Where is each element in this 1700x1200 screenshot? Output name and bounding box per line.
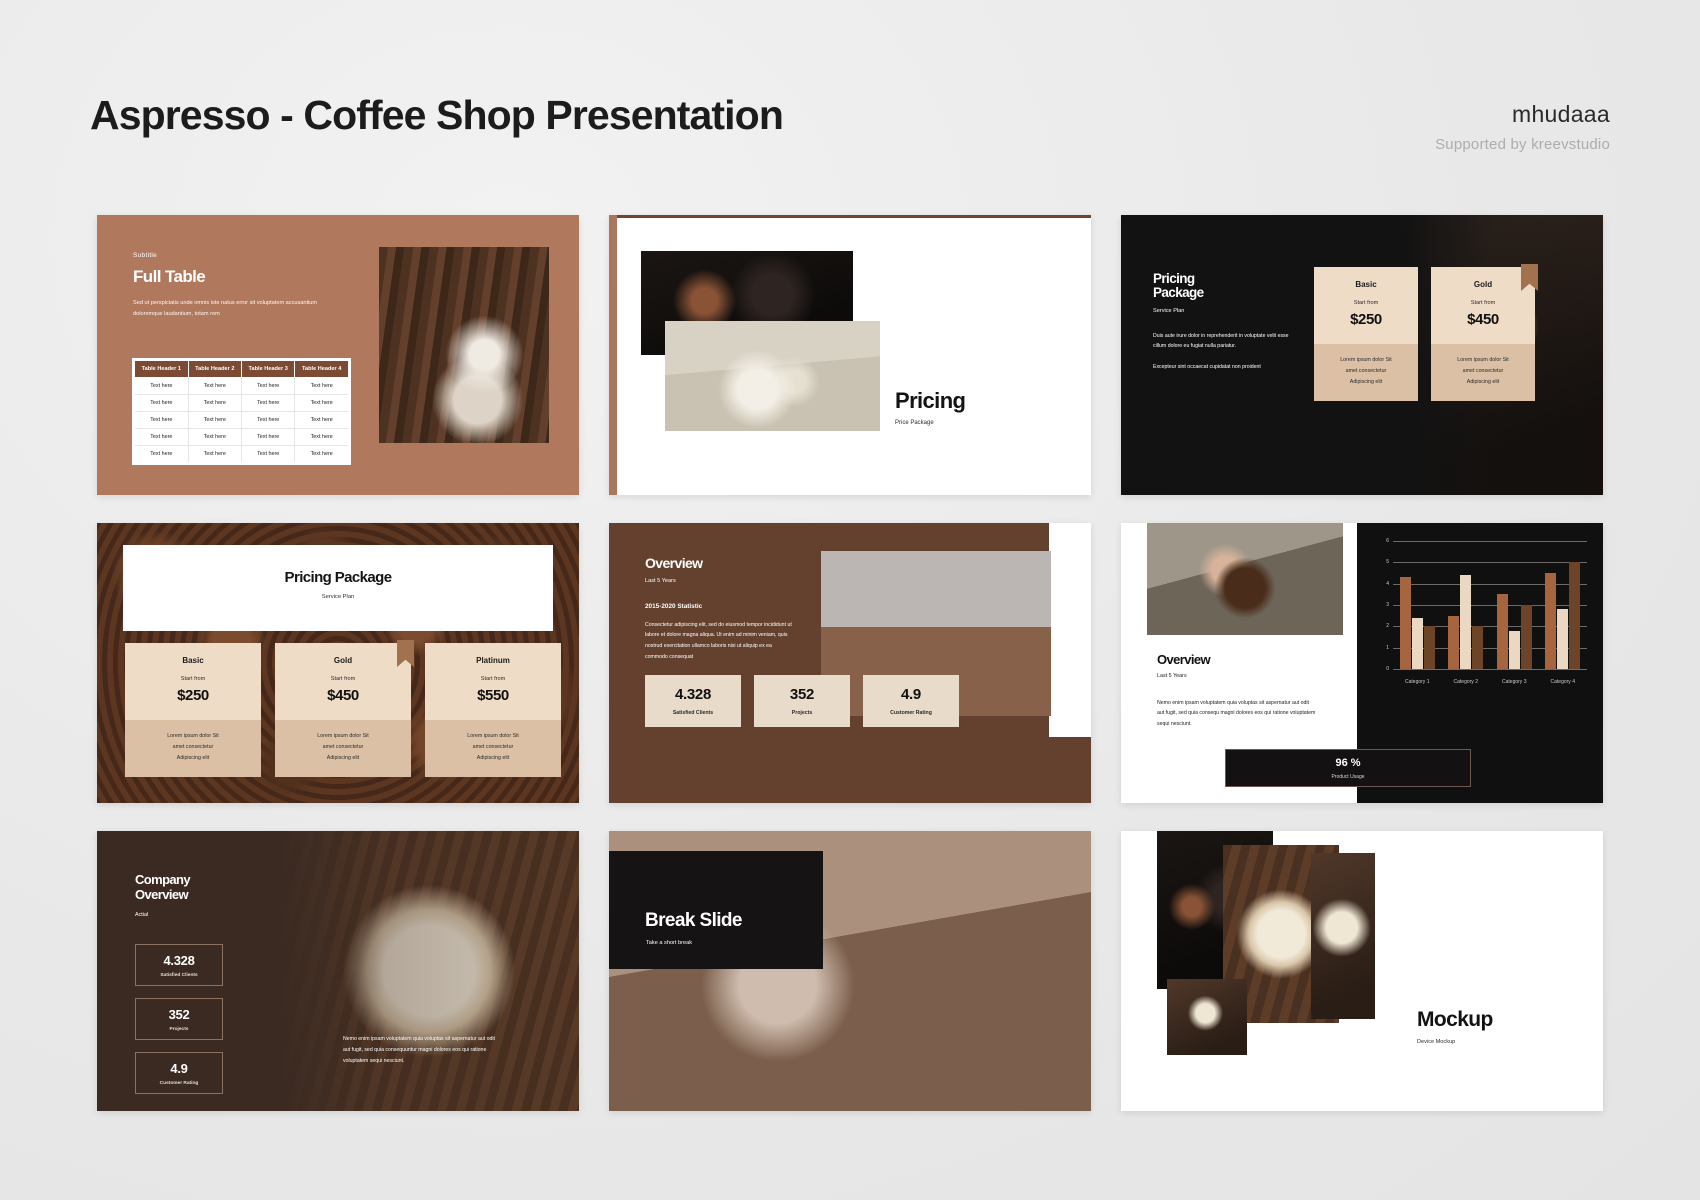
data-table: Table Header 1 Table Header 2 Table Head…	[132, 358, 351, 465]
slide-overview-stats[interactable]: Overview Last 5 Years 2015-2020 Statisti…	[609, 523, 1091, 803]
pricing-card-from: Start from	[131, 676, 255, 682]
table-header-2: Table Header 2	[188, 360, 241, 378]
pricing-card-name: Gold	[281, 656, 405, 665]
brand-supported-by: Supported by kreevstudio	[1435, 136, 1610, 153]
company-overview-title-line2: Overview	[135, 888, 190, 903]
overview-chart-text-block: Overview Last 5 Years Nemo enim ipsam vo…	[1157, 653, 1317, 730]
table-header-row: Table Header 1 Table Header 2 Table Head…	[134, 360, 350, 378]
table-cell: Text here	[295, 378, 350, 395]
pricing-card-from: Start from	[281, 676, 405, 682]
chart-y-tick-label: 4	[1371, 581, 1389, 587]
table-cell: Text here	[241, 412, 294, 429]
chart-y-tick-label: 5	[1371, 559, 1389, 565]
pricing-dark-subtitle: Service Plan	[1153, 308, 1298, 314]
slide-full-table[interactable]: Subtitle Full Table Sed ut perspiciatis …	[97, 215, 579, 495]
chart-gridline	[1393, 669, 1587, 670]
stat-label: Projects	[136, 1027, 222, 1032]
percent-box: 96 %Product Usage	[1225, 749, 1471, 787]
pricing-card-feature: amet consectetur	[131, 742, 255, 753]
stat-box: 4.9Customer Rating	[863, 675, 959, 727]
chart-bar	[1521, 605, 1532, 669]
pricing-card-feature: amet consectetur	[1320, 366, 1412, 377]
pricing-card-name: Gold	[1437, 280, 1529, 289]
break-subtitle: Take a short break	[646, 940, 823, 946]
chart-bar	[1424, 626, 1435, 669]
pricing-card-head: GoldStart from$450	[1431, 267, 1535, 344]
chart-bar	[1412, 618, 1423, 669]
pricing-beans-title: Pricing Package	[123, 545, 553, 586]
pricing-card-name: Platinum	[431, 656, 555, 665]
chart-x-tick-label: Category 3	[1490, 679, 1539, 685]
overview-chart-subtitle: Last 5 Years	[1157, 673, 1317, 679]
pricing-card-feature: Adipiscing elit	[131, 753, 255, 764]
chart-y-tick-label: 3	[1371, 602, 1389, 608]
chart-bar	[1509, 631, 1520, 669]
percent-value: 96 %	[1226, 757, 1470, 769]
photo-hands-holding-beans	[1147, 523, 1343, 635]
slide-overview-chart[interactable]: Overview Last 5 Years Nemo enim ipsam vo…	[1121, 523, 1603, 803]
stat-value: 4.9	[136, 1061, 222, 1076]
pricing-card-name: Basic	[131, 656, 255, 665]
pricing-card-head: BasicStart from$250	[125, 643, 261, 720]
pricing-card-feature: Adipiscing elit	[1320, 377, 1412, 388]
table-cell: Text here	[188, 446, 241, 464]
chart-x-tick-label: Category 1	[1393, 679, 1442, 685]
table-cell: Text here	[295, 395, 350, 412]
photo-coffee-cup-wood-table	[379, 247, 549, 443]
stat-label: Customer Rating	[136, 1081, 222, 1086]
pricing-dark-title-line2: Package	[1153, 286, 1298, 300]
pricing-card-feature: Lorem ipsum dolor Sit	[131, 731, 255, 742]
pricing-card-from: Start from	[431, 676, 555, 682]
table-row: Text hereText hereText hereText here	[134, 412, 350, 429]
chart-bar	[1472, 626, 1483, 669]
pricing-title-block: Pricing Price Package	[895, 389, 965, 426]
table-cell: Text here	[134, 429, 189, 446]
pricing-card-head: PlatinumStart from$550	[425, 643, 561, 720]
table-cell: Text here	[295, 429, 350, 446]
full-table-subtitle: Subtitle	[133, 252, 333, 259]
chart-y-tick-label: 1	[1371, 645, 1389, 651]
table-row: Text hereText hereText hereText here	[134, 395, 350, 412]
slide-break[interactable]: Break Slide Take a short break	[609, 831, 1091, 1111]
stat-label: Projects	[754, 710, 850, 716]
photo-cup-on-table	[665, 321, 880, 431]
pricing-card-feature: amet consectetur	[431, 742, 555, 753]
table-cell: Text here	[241, 378, 294, 395]
pricing-card-features: Lorem ipsum dolor Sitamet consecteturAdi…	[1431, 344, 1535, 401]
pricing-card-feature: Lorem ipsum dolor Sit	[431, 731, 555, 742]
slide-pricing-dark[interactable]: Pricing Package Service Plan Duis aute i…	[1121, 215, 1603, 495]
stat-box: 352Projects	[754, 675, 850, 727]
chart-bar	[1460, 575, 1471, 669]
brand-block: mhudaaa Supported by kreevstudio	[1435, 101, 1610, 153]
pricing-card-feature: Adipiscing elit	[281, 753, 405, 764]
stat-box-list: 4.328Satisfied Clients352Projects4.9Cust…	[645, 675, 959, 727]
full-table-description: Sed ut perspiciatis unde omnis iste natu…	[133, 298, 333, 320]
pricing-card-list: BasicStart from$250Lorem ipsum dolor Sit…	[1314, 267, 1535, 401]
table-body: Text hereText hereText hereText hereText…	[134, 378, 350, 464]
pricing-card-feature: Lorem ipsum dolor Sit	[281, 731, 405, 742]
chart-bar	[1545, 573, 1556, 669]
chart-bar-group	[1393, 541, 1442, 669]
pricing-card-features: Lorem ipsum dolor Sitamet consecteturAdi…	[125, 720, 261, 777]
chart-bar	[1448, 616, 1459, 669]
pricing-card-feature: amet consectetur	[1437, 366, 1529, 377]
bar-chart: 0123456 Category 1Category 2Category 3Ca…	[1371, 541, 1589, 691]
stat-value: 4.328	[136, 953, 222, 968]
pricing-dark-title-line1: Pricing	[1153, 272, 1298, 286]
percent-label: Product Usage	[1226, 774, 1470, 780]
pricing-card-price: $550	[431, 687, 555, 704]
pricing-dark-text-block: Pricing Package Service Plan Duis aute i…	[1153, 272, 1298, 373]
outline-stat-box: 4.328Satisfied Clients	[135, 944, 223, 986]
full-table-title: Full Table	[133, 268, 333, 286]
chart-y-tick-label: 0	[1371, 666, 1389, 672]
table-cell: Text here	[188, 412, 241, 429]
company-overview-paragraph: Nemo enim ipsam voluptatem quia voluptas…	[343, 1034, 503, 1067]
pricing-card[interactable]: BasicStart from$250Lorem ipsum dolor Sit…	[125, 643, 261, 777]
chart-bar-group	[1539, 541, 1588, 669]
stat-value: 4.328	[645, 686, 741, 703]
pricing-card-from: Start from	[1437, 300, 1529, 306]
pricing-card-feature: Lorem ipsum dolor Sit	[1320, 355, 1412, 366]
chart-bar	[1569, 562, 1580, 669]
overview-stat-heading: 2015-2020 Statistic	[645, 603, 793, 610]
pricing-dark-para-2: Excepteur sint occaecat cupidatat non pr…	[1153, 362, 1298, 372]
pricing-beans-subtitle: Service Plan	[123, 594, 553, 600]
slide-pricing-title[interactable]: Pricing Price Package	[609, 215, 1091, 495]
pricing-card-list: BasicStart from$250Lorem ipsum dolor Sit…	[125, 643, 561, 777]
company-overview-subtitle: Actial	[135, 912, 190, 918]
table-cell: Text here	[134, 378, 189, 395]
pricing-card-feature: Lorem ipsum dolor Sit	[1437, 355, 1529, 366]
pricing-card[interactable]: GoldStart from$450Lorem ipsum dolor Sita…	[275, 643, 411, 777]
photo-mockup-c	[1311, 853, 1375, 1019]
mockup-title-block: Mockup Device Mockup	[1417, 1009, 1493, 1045]
pricing-card[interactable]: PlatinumStart from$550Lorem ipsum dolor …	[425, 643, 561, 777]
pricing-card-price: $250	[131, 687, 255, 704]
overview-text-block: Overview Last 5 Years 2015-2020 Statisti…	[645, 556, 793, 662]
slide-grid: Subtitle Full Table Sed ut perspiciatis …	[97, 215, 1603, 1111]
chart-x-tick-label: Category 2	[1442, 679, 1491, 685]
outline-stat-list: 4.328Satisfied Clients352Projects4.9Cust…	[135, 944, 223, 1106]
photo-mockup-d	[1167, 979, 1247, 1055]
table-cell: Text here	[134, 412, 189, 429]
pricing-card-price: $450	[281, 687, 405, 704]
overview-chart-paragraph: Nemo enim ipsam voluptatem quia voluptas…	[1157, 698, 1317, 730]
chart-bar	[1400, 577, 1411, 669]
table-cell: Text here	[241, 395, 294, 412]
overview-subtitle: Last 5 Years	[645, 578, 793, 584]
table-cell: Text here	[295, 446, 350, 464]
chart-bar-group	[1442, 541, 1491, 669]
overview-chart-title: Overview	[1157, 653, 1317, 667]
pricing-card-features: Lorem ipsum dolor Sitamet consecteturAdi…	[1314, 344, 1418, 401]
table-cell: Text here	[188, 395, 241, 412]
chart-x-tick-label: Category 4	[1539, 679, 1588, 685]
mockup-title: Mockup	[1417, 1009, 1493, 1031]
pricing-title: Pricing	[895, 389, 965, 412]
pricing-card-feature: Adipiscing elit	[1437, 377, 1529, 388]
slide-pricing-package-beans[interactable]: Pricing Package Service Plan BasicStart …	[97, 523, 579, 803]
page-title: Aspresso - Coffee Shop Presentation	[90, 95, 1610, 136]
stat-value: 4.9	[863, 686, 959, 703]
company-overview-text-block: Company Overview Actial	[135, 873, 190, 918]
chart-y-tick-label: 2	[1371, 623, 1389, 629]
photo-fade-overlay	[279, 831, 579, 1111]
break-title: Break Slide	[645, 911, 823, 931]
pricing-dark-para-1: Duis aute irure dolor in reprehenderit i…	[1153, 331, 1298, 352]
table-cell: Text here	[241, 446, 294, 464]
pricing-card-feature: Adipiscing elit	[431, 753, 555, 764]
chart-y-tick-label: 6	[1371, 538, 1389, 544]
pricing-card-price: $450	[1437, 311, 1529, 328]
brand-name: mhudaaa	[1435, 101, 1610, 128]
full-table-text-block: Subtitle Full Table Sed ut perspiciatis …	[133, 252, 333, 320]
mockup-subtitle: Device Mockup	[1417, 1039, 1493, 1045]
pricing-card-price: $250	[1320, 311, 1412, 328]
table-cell: Text here	[295, 412, 350, 429]
break-card: Break Slide Take a short break	[609, 851, 823, 969]
chart-x-axis-labels: Category 1Category 2Category 3Category 4	[1393, 679, 1587, 685]
table-cell: Text here	[188, 378, 241, 395]
stat-label: Satisfied Clients	[645, 710, 741, 716]
table-cell: Text here	[188, 429, 241, 446]
pricing-subtitle: Price Package	[895, 420, 965, 426]
pricing-beans-header: Pricing Package Service Plan	[123, 545, 553, 631]
stat-label: Satisfied Clients	[136, 973, 222, 978]
page-header: Aspresso - Coffee Shop Presentation mhud…	[90, 95, 1610, 175]
overview-paragraph: Consectetur adipiscing elit, sed do eius…	[645, 620, 793, 663]
outline-stat-box: 352Projects	[135, 998, 223, 1040]
percent-box-list: 84%Product Sales96 %Product Usage	[1371, 749, 1471, 787]
slide-company-overview[interactable]: Company Overview Actial 4.328Satisfied C…	[97, 831, 579, 1111]
stat-box: 4.328Satisfied Clients	[645, 675, 741, 727]
table-header-1: Table Header 1	[134, 360, 189, 378]
company-overview-title-line1: Company	[135, 873, 190, 888]
outline-stat-box: 4.9Customer Rating	[135, 1052, 223, 1094]
pricing-card-feature: amet consectetur	[281, 742, 405, 753]
pricing-card-head: GoldStart from$450	[275, 643, 411, 720]
table-cell: Text here	[241, 429, 294, 446]
pricing-card[interactable]: GoldStart from$450Lorem ipsum dolor Sita…	[1431, 267, 1535, 401]
chart-bars	[1393, 541, 1587, 669]
pricing-card-features: Lorem ipsum dolor Sitamet consecteturAdi…	[425, 720, 561, 777]
chart-panel: 0123456 Category 1Category 2Category 3Ca…	[1357, 523, 1603, 803]
pricing-card-from: Start from	[1320, 300, 1412, 306]
stat-label: Customer Rating	[863, 710, 959, 716]
pricing-card-head: BasicStart from$250	[1314, 267, 1418, 344]
pricing-card-features: Lorem ipsum dolor Sitamet consecteturAdi…	[275, 720, 411, 777]
table-cell: Text here	[134, 395, 189, 412]
pricing-card-name: Basic	[1320, 280, 1412, 289]
chart-bar	[1557, 609, 1568, 669]
table-row: Text hereText hereText hereText here	[134, 446, 350, 464]
table-cell: Text here	[134, 446, 189, 464]
table-header-3: Table Header 3	[241, 360, 294, 378]
slide-mockup[interactable]: Mockup Device Mockup	[1121, 831, 1603, 1111]
table-header-4: Table Header 4	[295, 360, 350, 378]
table-row: Text hereText hereText hereText here	[134, 429, 350, 446]
pricing-card[interactable]: BasicStart from$250Lorem ipsum dolor Sit…	[1314, 267, 1418, 401]
overview-title: Overview	[645, 556, 793, 571]
stat-value: 352	[136, 1007, 222, 1022]
white-panel	[1049, 523, 1091, 737]
table-row: Text hereText hereText hereText here	[134, 378, 350, 395]
stat-value: 352	[754, 686, 850, 703]
chart-bar	[1497, 594, 1508, 669]
chart-bar-group	[1490, 541, 1539, 669]
